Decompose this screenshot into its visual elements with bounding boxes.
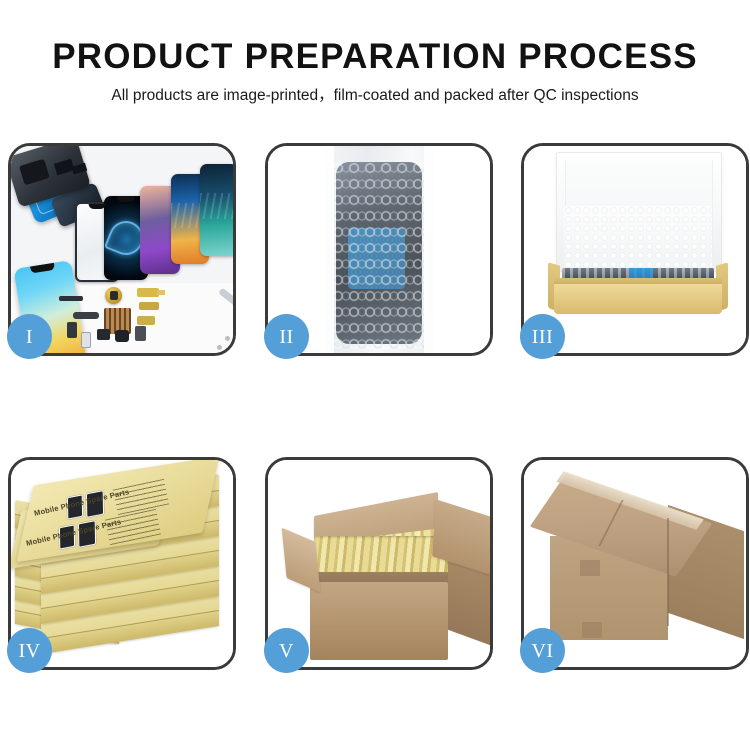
phone-screen-teal — [200, 164, 233, 256]
steps-row-bottom: Mobile Phone Spare Parts Mobile Phone Sp… — [8, 457, 742, 676]
sim-tray-part — [81, 332, 91, 348]
battery-part — [135, 326, 146, 341]
step-panel-5[interactable]: V — [265, 457, 493, 670]
step-badge-1: I — [7, 314, 52, 359]
connector-part — [67, 322, 77, 338]
carton-handle-tab-bottom — [582, 622, 602, 638]
foam-liner — [564, 206, 712, 270]
steps-row-top: I II — [8, 143, 742, 362]
screw-part-3 — [217, 345, 222, 350]
step-badge-6: VI — [520, 628, 565, 673]
step-badge-2: II — [264, 314, 309, 359]
step-badge-5: V — [264, 628, 309, 673]
step-badge-3: III — [520, 314, 565, 359]
screw-part-1 — [225, 336, 230, 341]
carton-handle-tab-top — [580, 560, 600, 576]
wrap-seam-edges — [325, 146, 433, 353]
steps-grid: I II — [8, 143, 742, 676]
header: PRODUCT PREPARATION PROCESS All products… — [0, 36, 750, 107]
step-panel-4[interactable]: Mobile Phone Spare Parts Mobile Phone Sp… — [8, 457, 236, 670]
camera-module-part — [97, 329, 110, 340]
ribbon-cable-part — [73, 312, 99, 319]
button-flex-part — [137, 316, 155, 325]
earpiece-mesh-part — [59, 296, 83, 301]
flex-cable-part-2 — [139, 302, 159, 310]
vibrator-motor-part — [115, 330, 129, 342]
step-panel-1[interactable]: I — [8, 143, 236, 356]
flex-cable-part-1 — [137, 288, 159, 297]
page-subtitle: All products are image-printed，film-coat… — [0, 85, 750, 107]
step-panel-2[interactable]: II — [265, 143, 493, 356]
speaker-part — [105, 287, 122, 304]
step-panel-3[interactable]: III — [521, 143, 749, 356]
product-preparation-infographic: PRODUCT PREPARATION PROCESS All products… — [0, 0, 750, 750]
inner-box-front — [554, 284, 722, 314]
step-panel-6[interactable]: VI — [521, 457, 749, 670]
carton-front-face — [310, 582, 448, 660]
step-badge-4: IV — [7, 628, 52, 673]
page-title: PRODUCT PREPARATION PROCESS — [0, 36, 750, 78]
carton-vertical-edge — [667, 518, 669, 626]
